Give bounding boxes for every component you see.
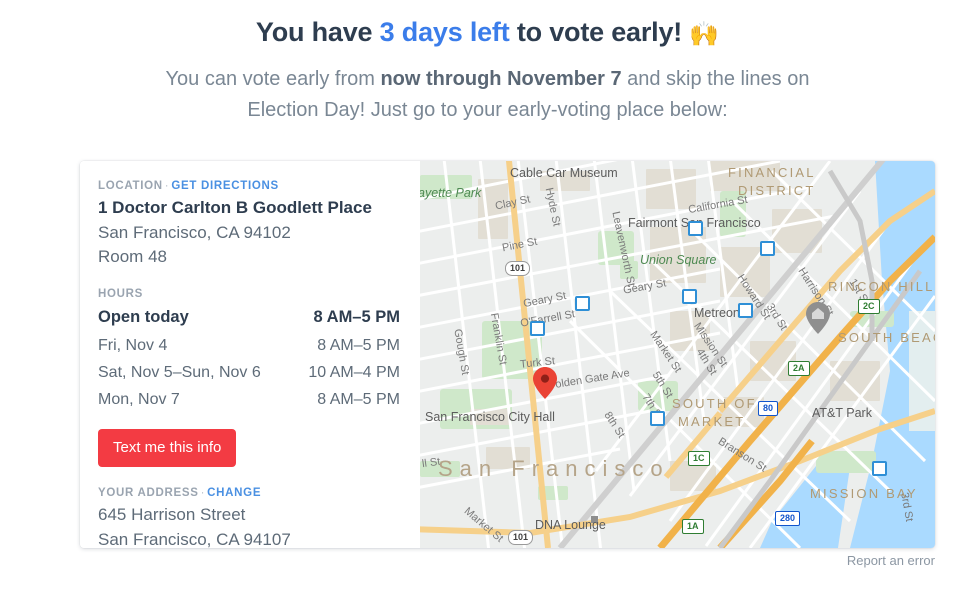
hours-table-body: Open today 8 AM–5 PM Fri, Nov 4 8 AM–5 P… [98, 304, 400, 413]
subtitle-pre: You can vote early from [166, 68, 381, 90]
map-tiles [420, 161, 935, 548]
transit-station-icon [530, 321, 545, 336]
location-label-row: LOCATION·GET DIRECTIONS [98, 180, 400, 192]
report-an-error-link[interactable]: Report an error [847, 553, 935, 568]
polling-place-name: 1 Doctor Carlton B Goodlett Place [98, 196, 400, 221]
transit-station-icon [738, 303, 753, 318]
headline-pre: You have [256, 17, 380, 47]
transit-station-icon [575, 296, 590, 311]
your-address-label: YOUR ADDRESS [98, 487, 199, 499]
hours-time: 10 AM–4 PM [291, 359, 400, 386]
headline-post: to vote early! [510, 17, 690, 47]
hours-day: Sat, Nov 5–Sun, Nov 6 [98, 359, 291, 386]
polling-place-city: San Francisco, CA 94102 [98, 221, 400, 246]
map-route-shield: 101 [508, 530, 533, 545]
hours-day: Mon, Nov 7 [98, 386, 291, 413]
transit-station-icon [760, 241, 775, 256]
label-separator: · [199, 487, 208, 499]
text-me-this-info-button[interactable]: Text me this info [98, 429, 236, 467]
map-route-shield: 2A [788, 361, 810, 376]
polling-place-card: LOCATION·GET DIRECTIONS 1 Doctor Carlton… [80, 161, 935, 548]
raised-hands-icon: 🙌 [689, 21, 719, 48]
hours-time: 8 AM–5 PM [291, 332, 400, 359]
table-row: Open today 8 AM–5 PM [98, 304, 400, 332]
change-address-link[interactable]: CHANGE [207, 487, 261, 499]
your-address-street: 645 Harrison Street [98, 503, 400, 528]
hours-time: 8 AM–5 PM [291, 304, 400, 332]
info-panel: LOCATION·GET DIRECTIONS 1 Doctor Carlton… [80, 161, 420, 548]
map-route-shield: 101 [505, 261, 530, 276]
transit-station-icon [682, 289, 697, 304]
table-row: Sat, Nov 5–Sun, Nov 6 10 AM–4 PM [98, 359, 400, 386]
hours-label: HOURS [98, 288, 400, 300]
transit-station-icon [872, 461, 887, 476]
map-route-shield: 280 [775, 511, 800, 526]
table-row: Mon, Nov 7 8 AM–5 PM [98, 386, 400, 413]
map-route-shield: 1A [682, 519, 704, 534]
transit-station-icon [650, 411, 665, 426]
transit-station-icon [688, 221, 703, 236]
polling-place-room: Room 48 [98, 245, 400, 270]
map-route-shield: 80 [758, 401, 778, 416]
map-route-shield: 1C [688, 451, 710, 466]
hours-table: Open today 8 AM–5 PM Fri, Nov 4 8 AM–5 P… [98, 304, 400, 413]
your-address-city: San Francisco, CA 94107 [98, 528, 400, 548]
map-view[interactable]: Cable Car MuseumFairmont San FranciscoMe… [420, 161, 935, 548]
map-route-shield: 2C [858, 299, 880, 314]
your-address-label-row: YOUR ADDRESS·CHANGE [98, 487, 400, 499]
subtitle-dates: now through November 7 [380, 68, 621, 90]
page-title: You have 3 days left to vote early! 🙌 [0, 16, 975, 50]
get-directions-link[interactable]: GET DIRECTIONS [171, 180, 279, 192]
location-label: LOCATION [98, 180, 163, 192]
headline-days-left: 3 days left [380, 17, 510, 47]
page-subtitle: You can vote early from now through Nove… [143, 64, 833, 126]
table-row: Fri, Nov 4 8 AM–5 PM [98, 332, 400, 359]
hours-time: 8 AM–5 PM [291, 386, 400, 413]
page-header: You have 3 days left to vote early! 🙌 Yo… [0, 0, 975, 126]
hours-day: Open today [98, 304, 291, 332]
hours-day: Fri, Nov 4 [98, 332, 291, 359]
